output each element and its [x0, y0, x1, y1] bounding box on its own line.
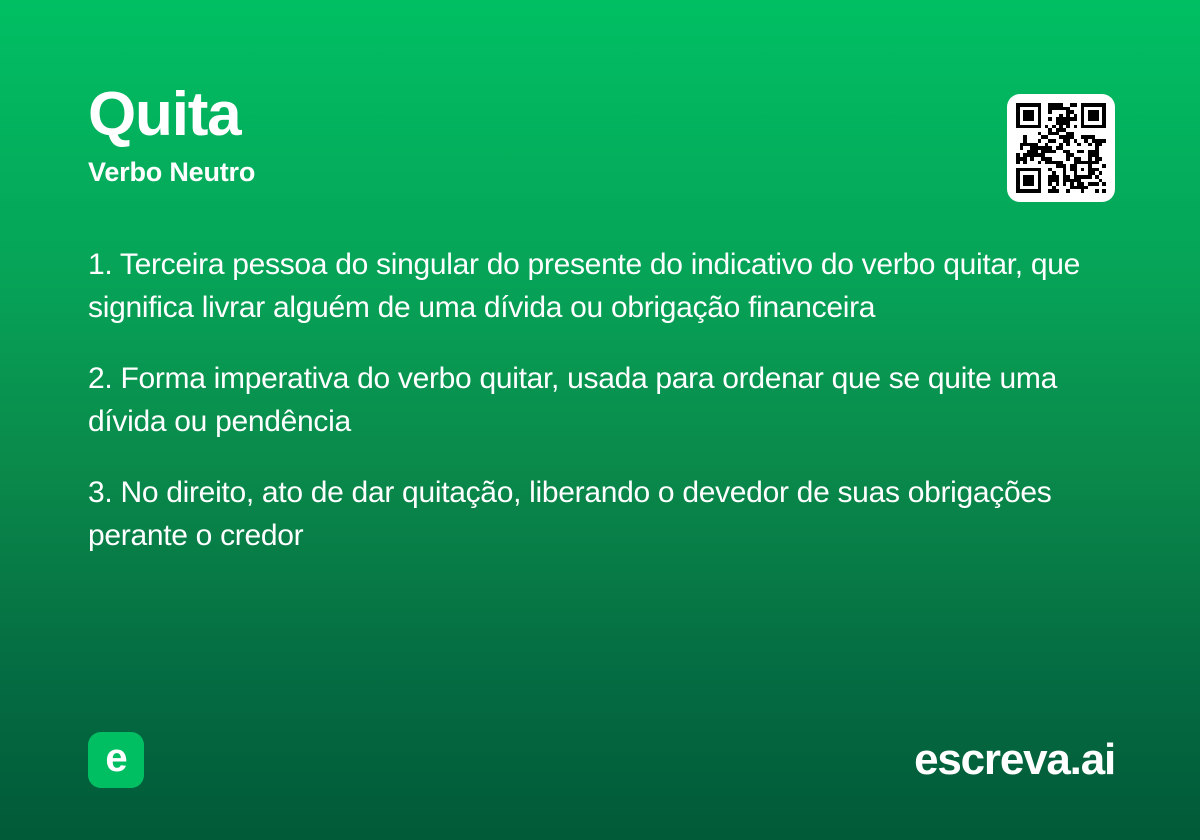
definition-item: 3. No direito, ato de dar quitação, libe…	[88, 471, 1110, 557]
definition-item: 2. Forma imperativa do verbo quitar, usa…	[88, 357, 1110, 443]
word-definition-card: Quita Verbo Neutro 1. Terceira pessoa do…	[0, 0, 1200, 840]
qr-code-icon[interactable]	[1007, 94, 1115, 202]
card-header: Quita Verbo Neutro	[88, 84, 1112, 214]
page-title: Quita	[88, 84, 1112, 146]
card-footer: e escreva.ai	[88, 732, 1115, 788]
definition-item: 1. Terceira pessoa do singular do presen…	[88, 243, 1110, 329]
definition-list: 1. Terceira pessoa do singular do presen…	[88, 243, 1110, 557]
qr-code-modules	[1016, 103, 1106, 193]
brand-wordmark: escreva.ai	[914, 738, 1115, 782]
logo-badge-icon: e	[88, 732, 144, 788]
word-class-label: Verbo Neutro	[88, 158, 1112, 188]
